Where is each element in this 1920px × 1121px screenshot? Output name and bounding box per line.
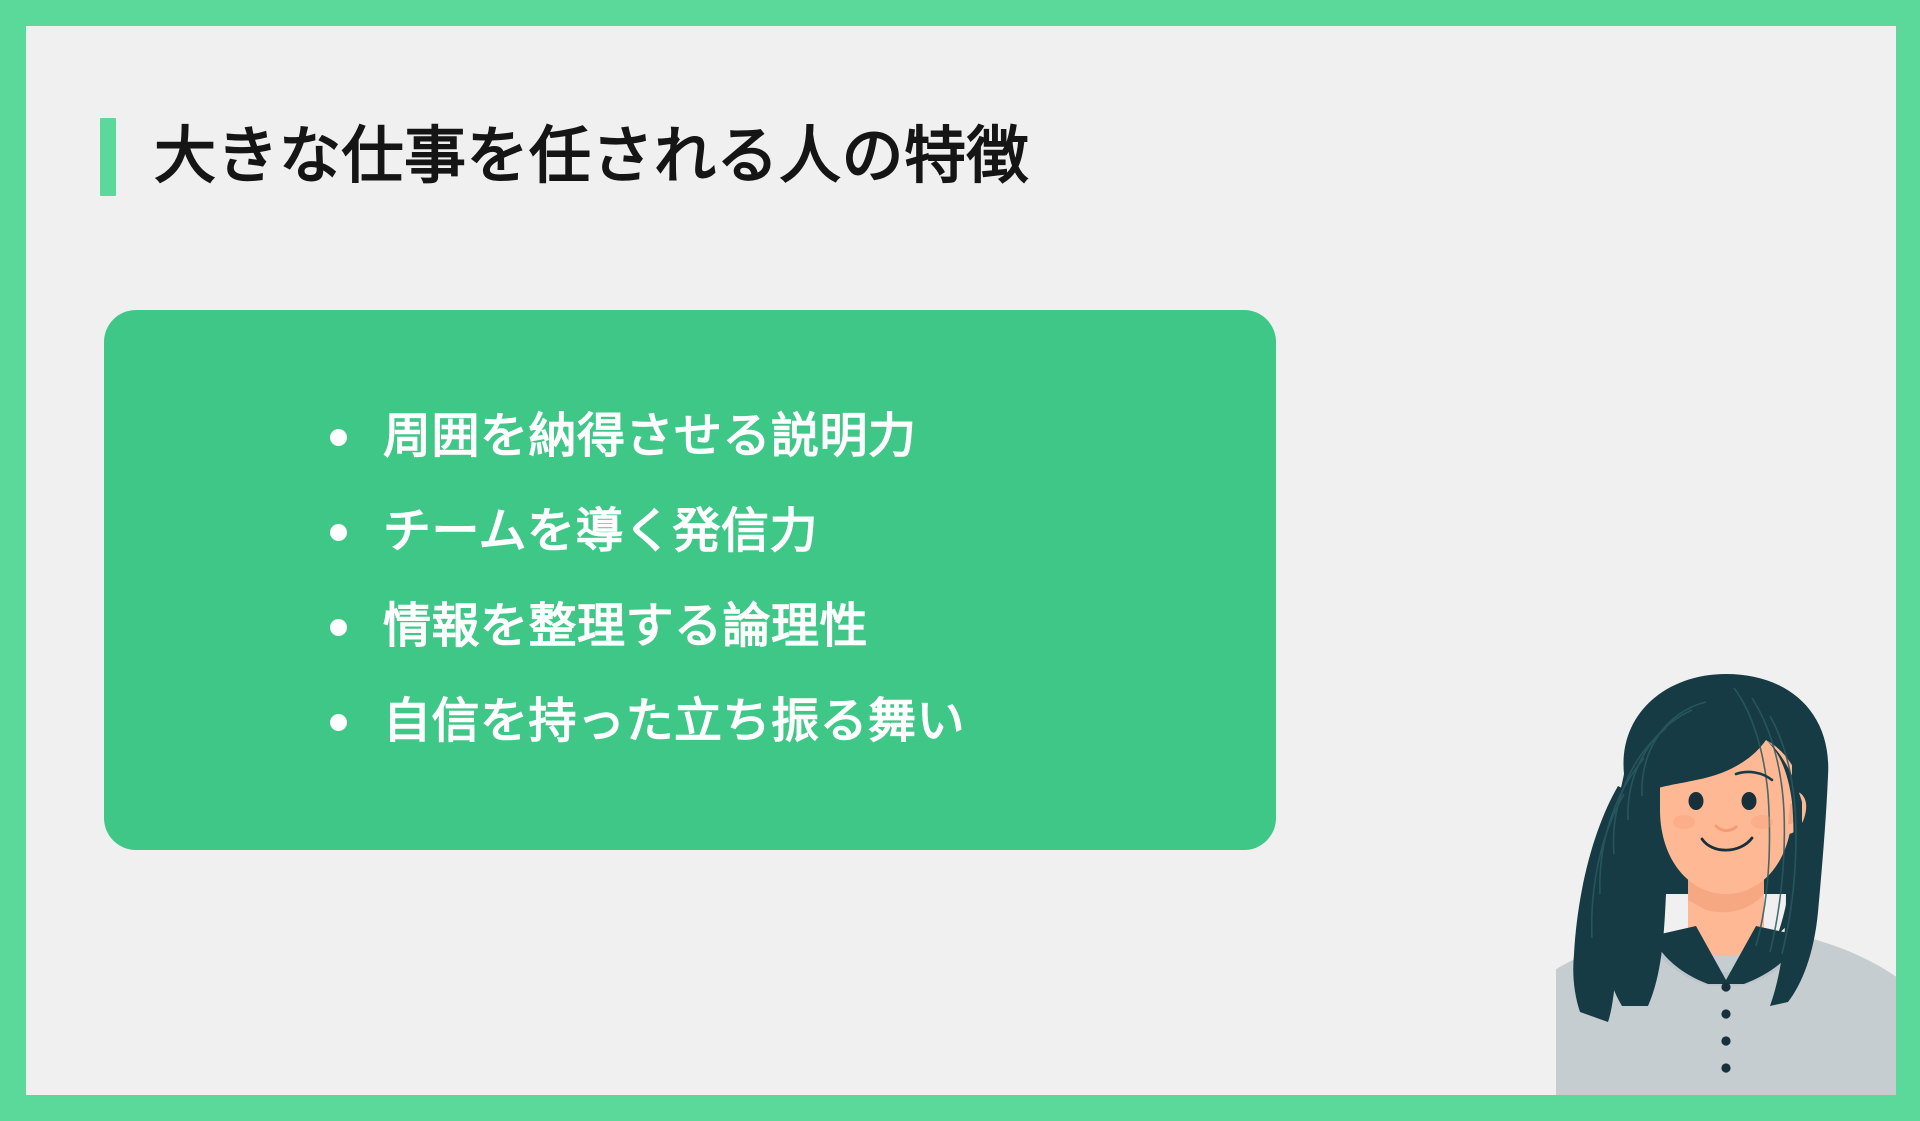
shirt-button xyxy=(1721,1063,1730,1072)
shirt-button xyxy=(1721,1036,1730,1045)
list-item: 周囲を納得させる説明力 xyxy=(330,390,1236,485)
shirt-button xyxy=(1721,1009,1730,1018)
list-item: 自信を持った立ち振る舞い xyxy=(330,675,1236,770)
slide-title-row: 大きな仕事を任される人の特徴 xyxy=(100,118,1029,196)
bullet-item-label: 周囲を納得させる説明力 xyxy=(383,411,917,464)
bullet-list: 周囲を納得させる説明力 チームを導く発信力 情報を整理する論理性 自信を持った立… xyxy=(104,310,1276,850)
bullet-dot-icon xyxy=(330,524,347,541)
eye-left xyxy=(1689,792,1704,810)
bullet-item-label: 自信を持った立ち振る舞い xyxy=(383,696,965,749)
list-item: チームを導く発信力 xyxy=(330,485,1236,580)
bullet-item-label: チームを導く発信力 xyxy=(383,506,818,559)
bullet-item-label: 情報を整理する論理性 xyxy=(383,601,868,654)
bullet-card: 周囲を納得させる説明力 チームを導く発信力 情報を整理する論理性 自信を持った立… xyxy=(104,310,1276,850)
eye-right xyxy=(1742,792,1757,810)
slide-frame: 大きな仕事を任される人の特徴 周囲を納得させる説明力 チームを導く発信力 情報を… xyxy=(0,0,1920,1121)
woman-portrait-illustration xyxy=(1556,654,1896,1095)
bullet-dot-icon xyxy=(330,429,347,446)
bullet-dot-icon xyxy=(330,714,347,731)
title-accent-bar xyxy=(100,118,116,196)
bullet-dot-icon xyxy=(330,619,347,636)
page-title: 大きな仕事を任される人の特徴 xyxy=(154,126,1029,188)
list-item: 情報を整理する論理性 xyxy=(330,580,1236,675)
shirt-button xyxy=(1721,982,1730,991)
slide-canvas: 大きな仕事を任される人の特徴 周囲を納得させる説明力 チームを導く発信力 情報を… xyxy=(26,26,1896,1095)
